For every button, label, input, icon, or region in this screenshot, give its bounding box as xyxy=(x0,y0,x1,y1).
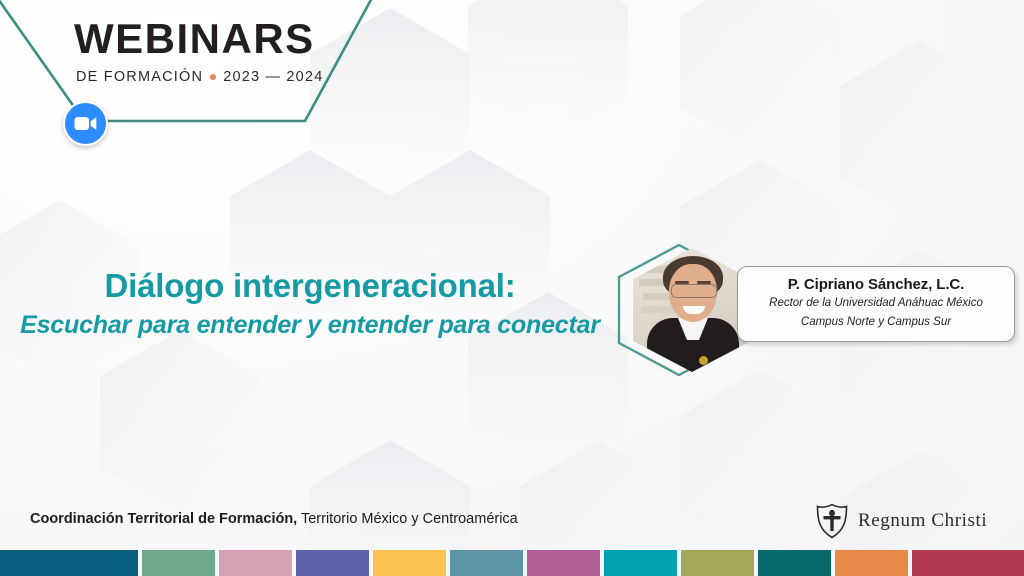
separator-dot-icon xyxy=(210,74,216,80)
speaker-role-line2: Campus Norte y Campus Sur xyxy=(750,315,1002,331)
color-swatch-dusty-pink xyxy=(219,550,292,576)
wordmark-title: WEBINARS xyxy=(74,18,323,60)
color-swatch-amber xyxy=(373,550,446,576)
regnum-christi-logo: Regnum Christi xyxy=(815,503,987,539)
footer-organization-rest: Territorio México y Centroamérica xyxy=(297,511,518,527)
webinars-wordmark: WEBINARS DE FORMACIÓN 2023 — 2024 xyxy=(74,18,323,85)
speaker-role-line1: Rector de la Universidad Anáhuac México xyxy=(750,296,1002,312)
color-swatch-olive xyxy=(681,550,754,576)
page-title: Diálogo intergeneracional: xyxy=(0,268,620,304)
color-swatch-strip xyxy=(0,550,1024,576)
color-swatch-sage-green xyxy=(142,550,215,576)
speaker-photo-frame xyxy=(617,243,757,378)
color-swatch-steel-teal xyxy=(450,550,523,576)
session-title-block: Diálogo intergeneracional: Escuchar para… xyxy=(0,268,620,340)
video-camera-icon xyxy=(63,101,108,146)
color-swatch-indigo xyxy=(296,550,369,576)
regnum-christi-wordmark: Regnum Christi xyxy=(858,510,987,532)
page-subtitle: Escuchar para entender y entender para c… xyxy=(0,312,620,340)
color-swatch-deep-blue xyxy=(0,550,138,576)
speaker-name: P. Cipriano Sánchez, L.C. xyxy=(750,276,1002,293)
wordmark-subtitle: DE FORMACIÓN 2023 — 2024 xyxy=(76,69,323,85)
color-swatch-cyan xyxy=(604,550,677,576)
color-swatch-magenta xyxy=(527,550,600,576)
wordmark-subtitle-years: 2023 — 2024 xyxy=(223,69,323,85)
color-swatch-orange xyxy=(835,550,908,576)
shield-cross-icon xyxy=(815,503,849,539)
wordmark-subtitle-prefix: DE FORMACIÓN xyxy=(76,69,203,85)
color-swatch-crimson xyxy=(912,550,1024,576)
speaker-name-card: P. Cipriano Sánchez, L.C. Rector de la U… xyxy=(737,266,1015,342)
webinar-slide: WEBINARS DE FORMACIÓN 2023 — 2024 Diálog… xyxy=(0,0,1024,576)
color-swatch-dark-teal xyxy=(758,550,831,576)
footer-organization-bold: Coordinación Territorial de Formación, xyxy=(30,511,297,527)
footer-organization: Coordinación Territorial de Formación, T… xyxy=(30,511,518,527)
speaker-block: P. Cipriano Sánchez, L.C. Rector de la U… xyxy=(617,243,1017,378)
